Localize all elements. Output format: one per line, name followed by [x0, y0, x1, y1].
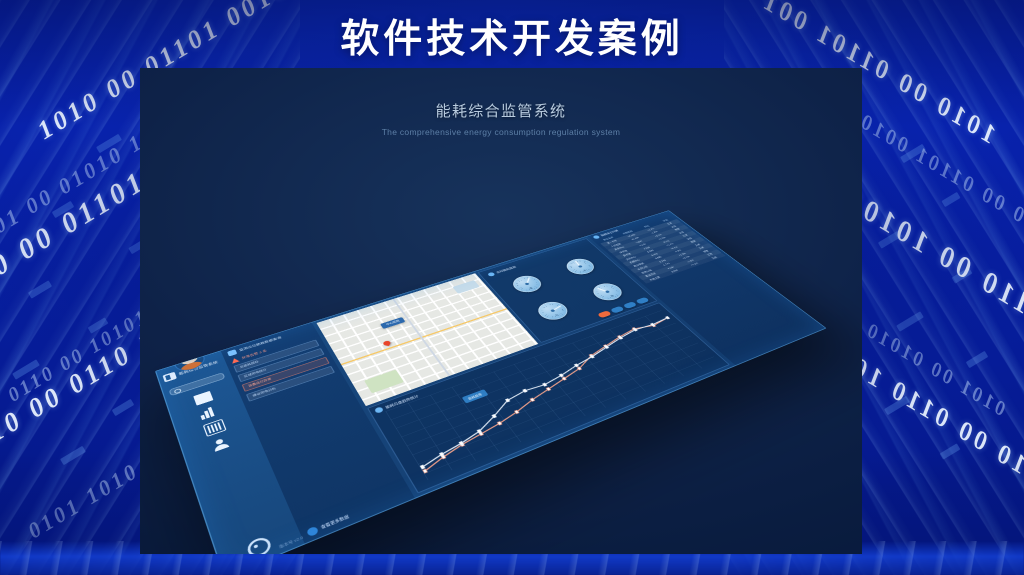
showcase-panel: 能耗综合监管系统 The comprehensive energy consum…	[140, 68, 862, 554]
sidebar-item-reports[interactable]	[202, 419, 226, 437]
dashboard-mockup-wrapper: 能耗综合监管系统 版本号 v2.0	[140, 68, 862, 554]
gauge-electricity: 电	[508, 273, 546, 295]
sidebar-footer-text: 版本号 v2.0	[279, 536, 305, 550]
sidebar-item-statistics[interactable]	[198, 405, 219, 420]
filter-icon	[227, 349, 237, 356]
period-pill-month[interactable]	[623, 301, 638, 309]
gauge-heat: 热	[588, 280, 627, 303]
filter-chip-label: 峰谷用电分析	[252, 387, 277, 398]
chevron-right-icon	[306, 526, 319, 537]
sidebar-item-home[interactable]	[193, 391, 213, 406]
warning-icon	[230, 357, 239, 363]
period-pill-year[interactable]	[635, 297, 650, 305]
page-title: 软件技术开发案例	[0, 8, 1024, 64]
period-pill-day[interactable]	[597, 310, 612, 318]
gauge-water: 水	[562, 256, 599, 277]
more-data-button[interactable]: 查看更多数据	[306, 490, 407, 537]
slide-root: 1010 00 01101 0010 0101 00 01010 1101 10…	[0, 0, 1024, 575]
more-data-label: 查看更多数据	[320, 514, 350, 530]
gear-icon[interactable]	[245, 535, 273, 554]
line-chart-icon	[374, 407, 384, 414]
logo-mark-icon	[163, 372, 177, 383]
period-pill-week[interactable]	[610, 306, 625, 314]
sidebar-nav[interactable]	[192, 391, 233, 453]
dashboard-mockup[interactable]: 能耗综合监管系统 版本号 v2.0	[155, 210, 827, 554]
gauge-gas: 气	[533, 299, 573, 323]
sidebar-item-users[interactable]	[210, 436, 231, 453]
